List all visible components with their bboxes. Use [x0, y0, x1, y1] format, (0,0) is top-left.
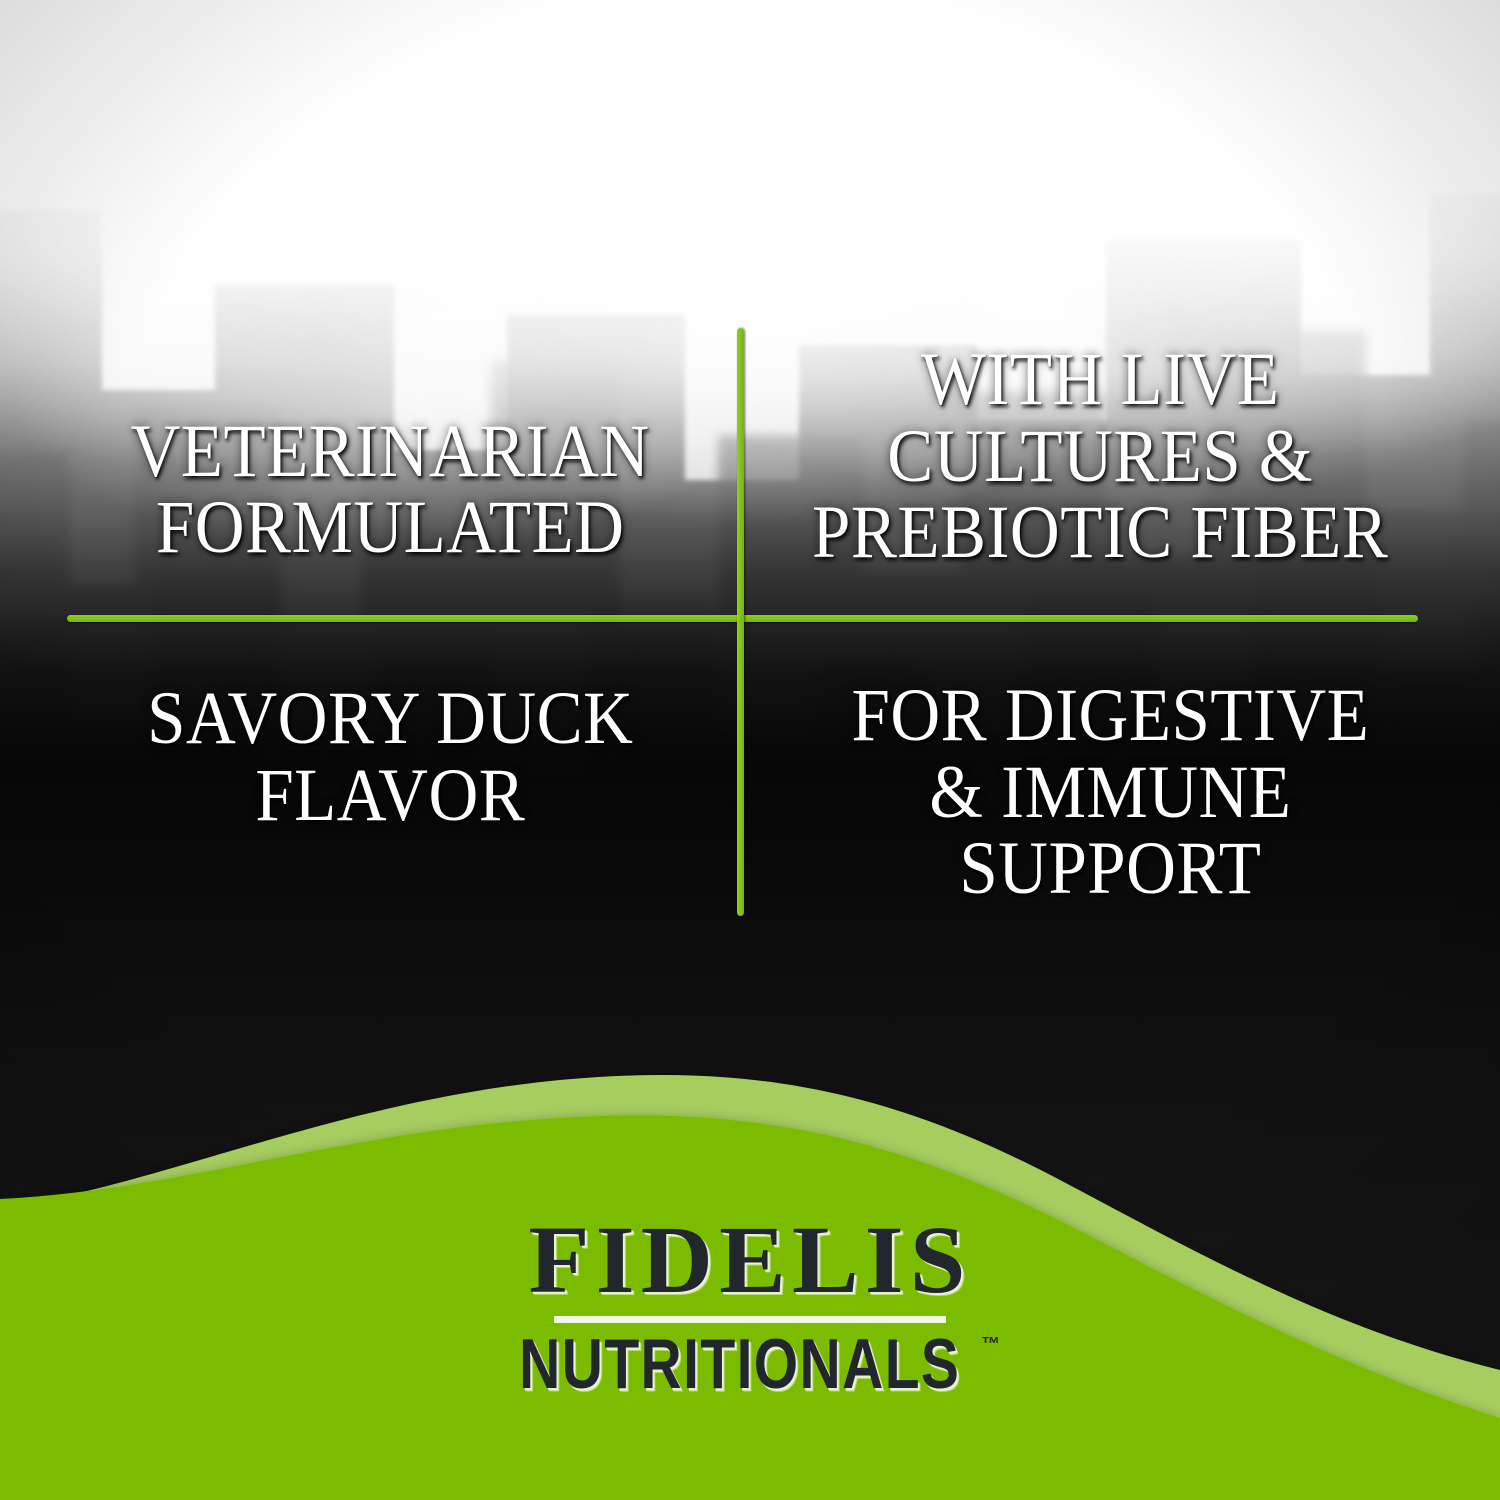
vertical-divider-line: [737, 328, 744, 916]
brand-logo: FIDELIS NUTRITIONALS ™: [0, 1213, 1500, 1392]
brand-subtitle-wrap: NUTRITIONALS ™: [500, 1330, 1001, 1392]
benefit-veterinarian-formulated: VETERINARIANFORMULATED: [60, 390, 720, 590]
benefit-text: SAVORY DUCKFLAVOR: [147, 681, 633, 834]
product-feature-banner: VETERINARIANFORMULATED WITH LIVECULTURES…: [0, 0, 1500, 1500]
trademark-symbol: ™: [981, 1334, 1000, 1356]
brand-name: FIDELIS: [528, 1213, 971, 1307]
benefit-digestive-immune-support: FOR DIGESTIVE& IMMUNESUPPORT: [770, 668, 1450, 918]
benefit-text: WITH LIVECULTURES &PREBIOTIC FIBER: [812, 342, 1388, 572]
brand-subtitle: NUTRITIONALS: [519, 1330, 960, 1401]
benefit-text: FOR DIGESTIVE& IMMUNESUPPORT: [851, 678, 1369, 908]
benefit-live-cultures-prebiotic-fiber: WITH LIVECULTURES &PREBIOTIC FIBER: [770, 322, 1430, 592]
benefit-savory-duck-flavor: SAVORY DUCKFLAVOR: [60, 665, 720, 850]
benefit-text: VETERINARIANFORMULATED: [130, 414, 649, 567]
logo-divider-rule: [554, 1316, 946, 1323]
